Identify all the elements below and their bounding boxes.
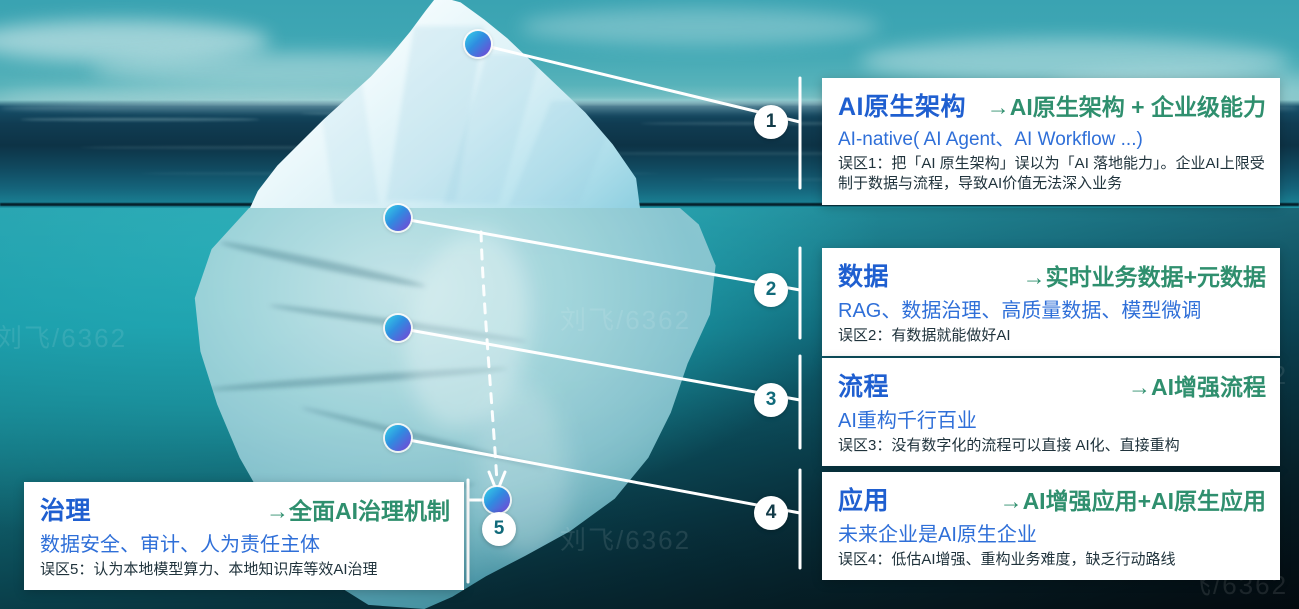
anchor-dot-1[interactable] <box>465 31 491 57</box>
card-process-title: 流程 <box>838 367 889 403</box>
marker-3[interactable]: 3 <box>754 383 788 417</box>
card-architecture-arrow: →AI原生架构 + 企业级能力 <box>987 88 1266 122</box>
card-governance-title: 治理 <box>40 491 91 527</box>
card-governance[interactable]: 治理 →全面AI治理机制 数据安全、审计、人为责任主体 误区5：认为本地模型算力… <box>24 482 464 590</box>
anchor-dot-5[interactable] <box>484 487 510 513</box>
card-architecture[interactable]: AI原生架构 →AI原生架构 + 企业级能力 AI-native( AI Age… <box>822 78 1280 205</box>
card-process[interactable]: 流程 →AI增强流程 AI重构千行百业 误区3：没有数字化的流程可以直接 AI化… <box>822 358 1280 466</box>
card-governance-subtitle: 数据安全、审计、人为责任主体 <box>40 528 450 557</box>
card-architecture-header: AI原生架构 →AI原生架构 + 企业级能力 <box>838 87 1266 123</box>
card-data-subtitle: RAG、数据治理、高质量数据、模型微调 <box>838 294 1266 323</box>
iceberg-infographic: 刘飞/6362 刘飞/6362 刘飞/6362 刘飞/6362 刘飞/6362 … <box>0 0 1299 609</box>
card-application-title: 应用 <box>838 481 889 517</box>
card-governance-header: 治理 →全面AI治理机制 <box>40 491 450 527</box>
card-architecture-title: AI原生架构 <box>838 87 966 123</box>
card-data-title: 数据 <box>838 257 889 293</box>
leader-2 <box>398 218 800 290</box>
card-process-subtitle: AI重构千行百业 <box>838 404 1266 433</box>
marker-4[interactable]: 4 <box>754 496 788 530</box>
dashed-guide <box>481 232 497 482</box>
card-data-arrow: →实时业务数据+元数据 <box>1023 258 1266 292</box>
card-data-header: 数据 →实时业务数据+元数据 <box>838 257 1266 293</box>
card-application-arrow: →AI增强应用+AI原生应用 <box>1000 482 1266 516</box>
card-application-subtitle: 未来企业是AI原生企业 <box>838 518 1266 547</box>
card-architecture-note: 误区1：把「AI 原生架构」误以为「AI 落地能力」。企业AI上限受制于数据与流… <box>838 154 1266 195</box>
card-governance-note: 误区5：认为本地模型算力、本地知识库等效AI治理 <box>40 560 450 580</box>
card-application-note: 误区4：低估AI增强、重构业务难度，缺乏行动路线 <box>838 550 1266 570</box>
marker-2[interactable]: 2 <box>754 273 788 307</box>
anchor-dot-4[interactable] <box>385 425 411 451</box>
marker-1[interactable]: 1 <box>754 105 788 139</box>
anchor-dot-3[interactable] <box>385 315 411 341</box>
card-data[interactable]: 数据 →实时业务数据+元数据 RAG、数据治理、高质量数据、模型微调 误区2：有… <box>822 248 1280 356</box>
card-data-note: 误区2：有数据就能做好AI <box>838 326 1266 346</box>
card-architecture-subtitle: AI-native( AI Agent、AI Workflow ...) <box>838 124 1266 151</box>
anchor-dot-2[interactable] <box>385 205 411 231</box>
card-governance-arrow: →全面AI治理机制 <box>266 492 450 526</box>
marker-5[interactable]: 5 <box>482 512 516 546</box>
card-process-note: 误区3：没有数字化的流程可以直接 AI化、直接重构 <box>838 436 1266 456</box>
leader-1 <box>478 44 800 122</box>
card-process-header: 流程 →AI增强流程 <box>838 367 1266 403</box>
card-application[interactable]: 应用 →AI增强应用+AI原生应用 未来企业是AI原生企业 误区4：低估AI增强… <box>822 472 1280 580</box>
card-process-arrow: →AI增强流程 <box>1128 368 1266 402</box>
leader-3 <box>398 328 800 400</box>
card-application-header: 应用 →AI增强应用+AI原生应用 <box>838 481 1266 517</box>
